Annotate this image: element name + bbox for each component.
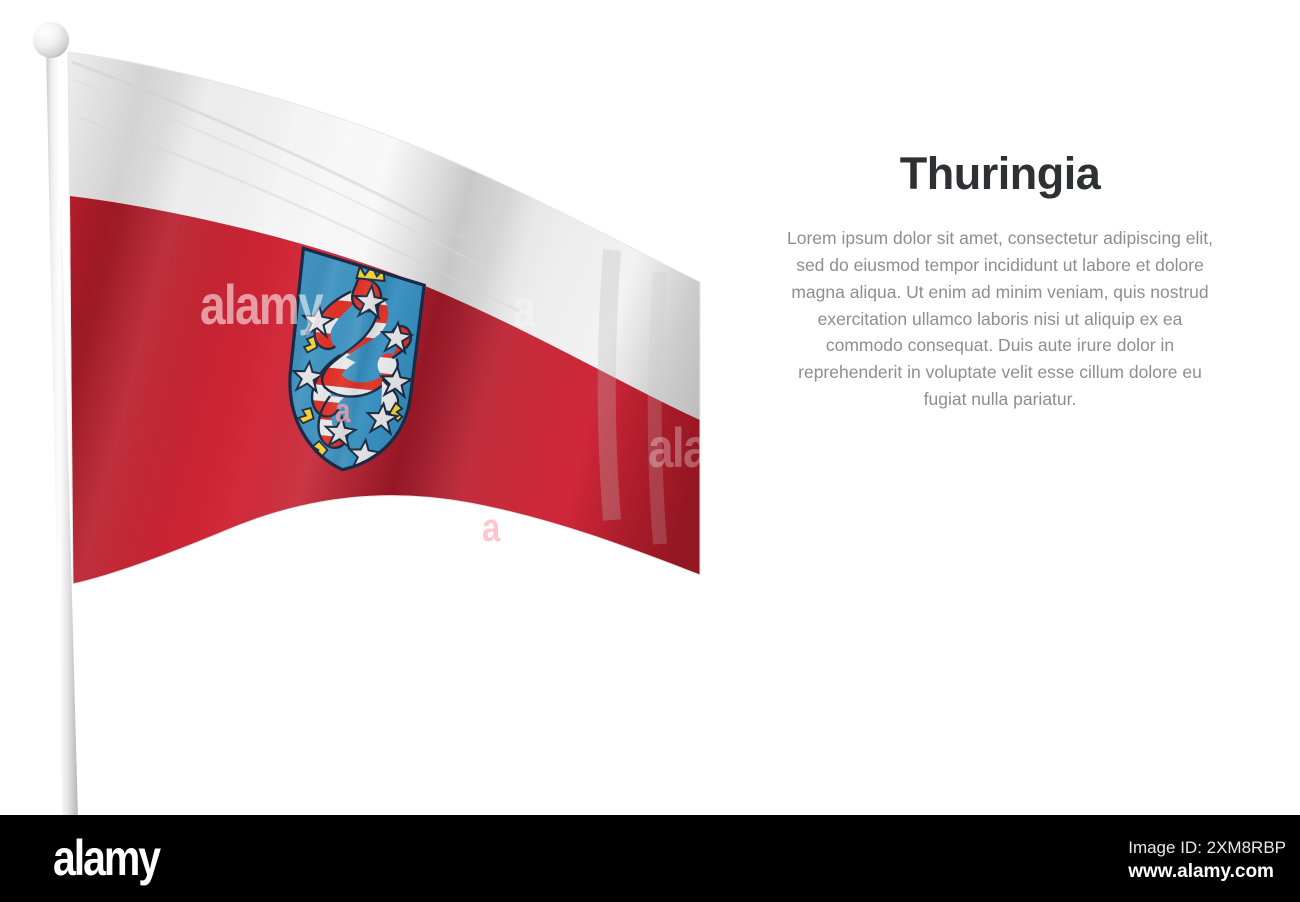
- image-id-label: Image ID: 2XM8RBP: [1128, 837, 1286, 858]
- pole-finial-ball: [33, 22, 69, 58]
- page-title: Thuringia: [780, 150, 1220, 197]
- waving-flag-illustration: alamy a ala a a: [0, 0, 760, 830]
- alamy-url: www.alamy.com: [1128, 860, 1286, 884]
- description-text: Lorem ipsum dolor sit amet, consectetur …: [780, 225, 1220, 412]
- screenshot-canvas: alamy a ala a a Thuringia Lorem ipsum do…: [0, 0, 1300, 902]
- alamy-logo: alamy: [53, 833, 159, 883]
- flag-svg: [0, 0, 760, 830]
- description-panel: Thuringia Lorem ipsum dolor sit amet, co…: [780, 150, 1220, 413]
- footer-meta: Image ID: 2XM8RBP www.alamy.com: [1128, 837, 1286, 884]
- alamy-footer-bar: alamy Image ID: 2XM8RBP www.alamy.com: [0, 815, 1300, 902]
